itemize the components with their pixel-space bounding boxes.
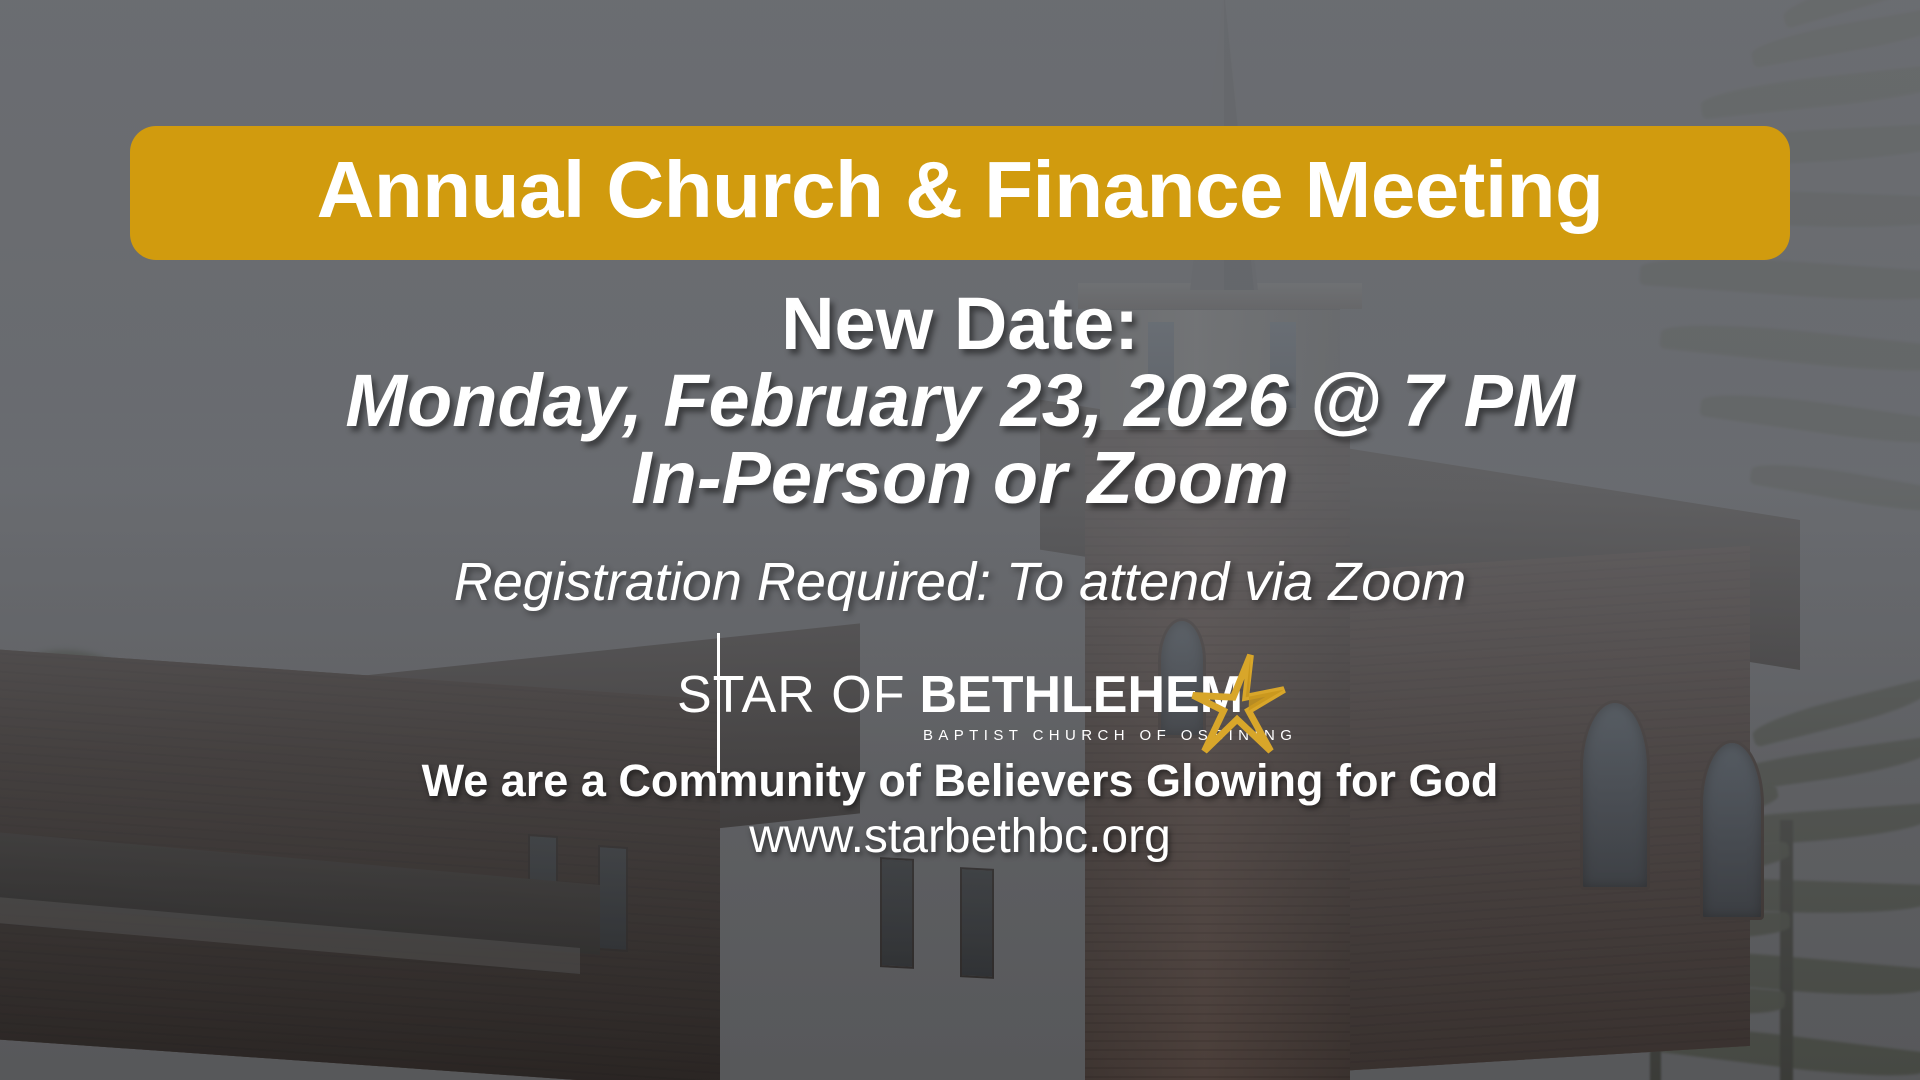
event-date-block: New Date: Monday, February 23, 2026 @ 7 … [345, 286, 1574, 517]
new-date-label: New Date: [345, 286, 1574, 363]
tagline: We are a Community of Believers Glowing … [422, 755, 1499, 807]
church-logo: STAR OF BETHLEHEM BAPTIST CHURCH OF OSSI… [677, 669, 1243, 721]
page-title: Annual Church & Finance Meeting [160, 148, 1760, 232]
registration-note: Registration Required: To attend via Zoo… [454, 551, 1467, 613]
title-banner: Annual Church & Finance Meeting [130, 126, 1790, 260]
star-icon [1191, 651, 1287, 757]
event-flyer: Annual Church & Finance Meeting New Date… [0, 0, 1920, 1080]
flyer-content: Annual Church & Finance Meeting New Date… [0, 0, 1920, 1080]
website-url[interactable]: www.starbethbc.org [749, 809, 1171, 864]
cross-icon [717, 633, 720, 773]
logo-lockup: STAR OF BETHLEHEM BAPTIST CHURCH OF OSSI… [677, 669, 1243, 721]
event-date-value: Monday, February 23, 2026 @ 7 PM [345, 363, 1574, 440]
event-format: In-Person or Zoom [345, 440, 1574, 517]
logo-word-light: STAR OF [677, 669, 905, 721]
